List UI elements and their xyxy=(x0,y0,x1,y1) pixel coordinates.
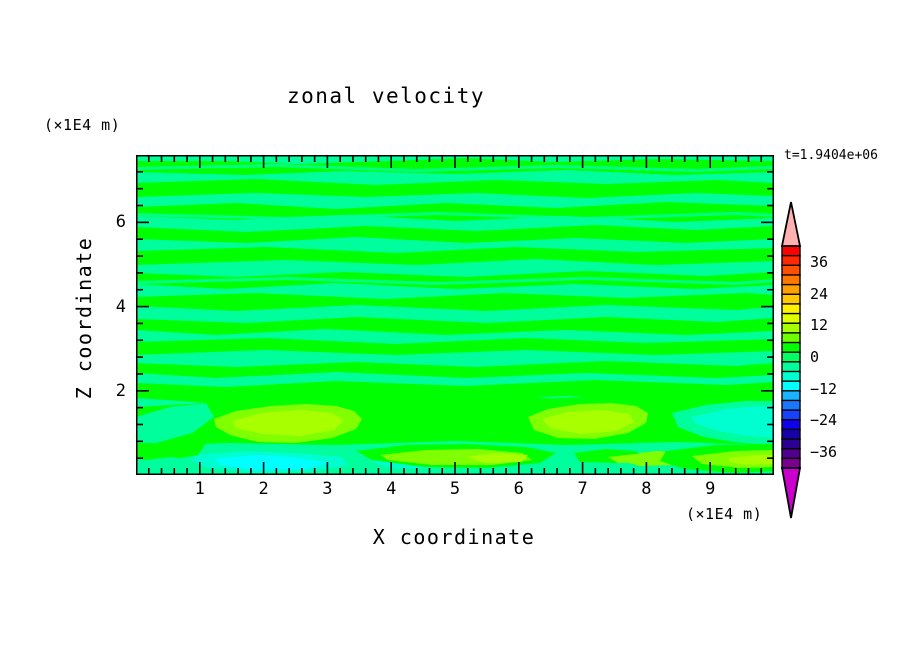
y-tick-label: 2 xyxy=(112,381,126,401)
colorbar-band xyxy=(782,294,800,304)
time-annotation: t=1.9404e+06 xyxy=(784,148,878,163)
colorbar-band xyxy=(782,391,800,401)
y-tick-label: 4 xyxy=(112,297,126,317)
x-tick-label: 6 xyxy=(514,479,524,499)
colorbar-band xyxy=(782,275,800,285)
x-tick-label: 3 xyxy=(322,479,332,499)
x-tick-label: 2 xyxy=(258,479,268,499)
colorbar-tick-label: −36 xyxy=(810,443,837,461)
colorbar-over-arrow xyxy=(782,202,800,246)
colorbar-tick-label: 36 xyxy=(810,253,828,271)
page-title: zonal velocity xyxy=(0,84,772,108)
colorbar-band xyxy=(782,304,800,314)
x-tick-label: 1 xyxy=(195,479,205,499)
colorbar-tick-label: −12 xyxy=(810,380,837,398)
colorbar-band xyxy=(782,314,800,324)
colorbar-tick-label: 0 xyxy=(810,348,819,366)
colorbar-band xyxy=(782,333,800,343)
colorbar-band xyxy=(782,429,800,439)
colorbar-band xyxy=(782,371,800,381)
contour-field xyxy=(136,155,774,475)
colorbar-band xyxy=(782,246,800,256)
colorbar-band xyxy=(782,439,800,449)
x-tick-label: 9 xyxy=(705,479,715,499)
x-tick-label: 5 xyxy=(450,479,460,499)
colorbar-band xyxy=(782,352,800,362)
colorbar xyxy=(778,200,814,520)
x-tick-label: 8 xyxy=(641,479,651,499)
colorbar-tick-label: −24 xyxy=(810,411,837,429)
y-tick-label: 6 xyxy=(112,212,126,232)
colorbar-band xyxy=(782,362,800,372)
colorbar-band xyxy=(782,420,800,430)
contour-plot-figure: zonal velocity (×1E4 m) (×1E4 m) t=1.940… xyxy=(0,0,904,654)
colorbar-band xyxy=(782,381,800,391)
colorbar-band xyxy=(782,343,800,353)
x-axis-title: X coordinate xyxy=(136,525,772,549)
colorbar-band xyxy=(782,449,800,459)
colorbar-band xyxy=(782,256,800,266)
colorbar-band xyxy=(782,410,800,420)
x-tick-label: 4 xyxy=(386,479,396,499)
colorbar-band xyxy=(782,458,800,468)
y-axis-units-label: (×1E4 m) xyxy=(44,116,120,134)
colorbar-tick-label: 24 xyxy=(810,285,828,303)
colorbar-band xyxy=(782,285,800,295)
colorbar-tick-label: 12 xyxy=(810,316,828,334)
x-tick-label: 7 xyxy=(577,479,587,499)
colorbar-under-arrow xyxy=(782,468,800,518)
x-axis-units-label: (×1E4 m) xyxy=(686,505,762,523)
colorbar-band xyxy=(782,400,800,410)
colorbar-band xyxy=(782,265,800,275)
colorbar-band xyxy=(782,323,800,333)
y-axis-title: Z coordinate xyxy=(72,208,96,428)
